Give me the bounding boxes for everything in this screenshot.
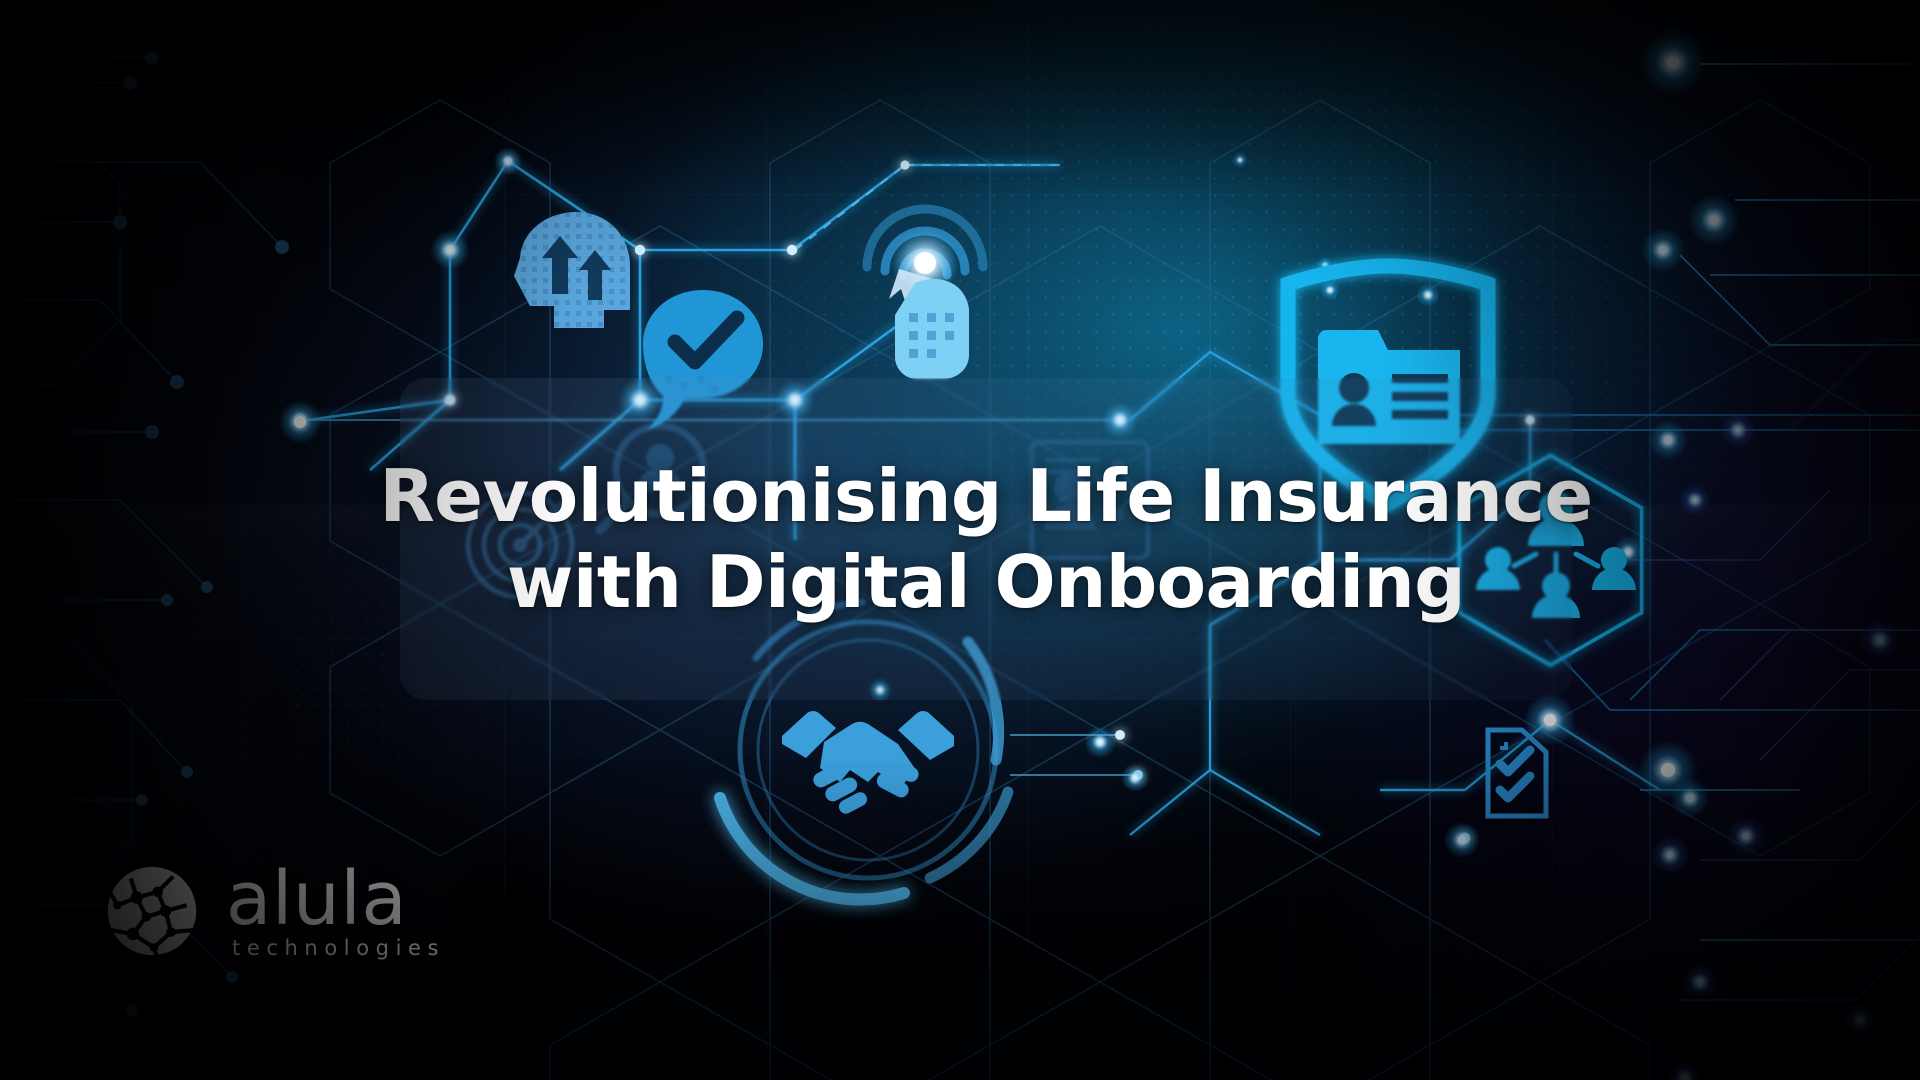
hero-title: Revolutionising Life Insurance with Digi… [400, 378, 1572, 700]
checklist-doc-icon [1488, 730, 1546, 816]
brand-logo[interactable]: alula technologies [104, 862, 445, 959]
alula-globe-mark [104, 863, 200, 959]
touch-signal-icon [867, 209, 983, 379]
logo-brand-name: alula [226, 862, 445, 936]
hero-title-line-2: with Digital Onboarding [507, 544, 1465, 620]
hero-title-line-1: Revolutionising Life Insurance [379, 458, 1592, 534]
logo-tagline: technologies [226, 938, 445, 959]
banner-canvas: Revolutionising Life Insurance with Digi… [0, 0, 1920, 1080]
head-growth-icon [514, 212, 630, 328]
